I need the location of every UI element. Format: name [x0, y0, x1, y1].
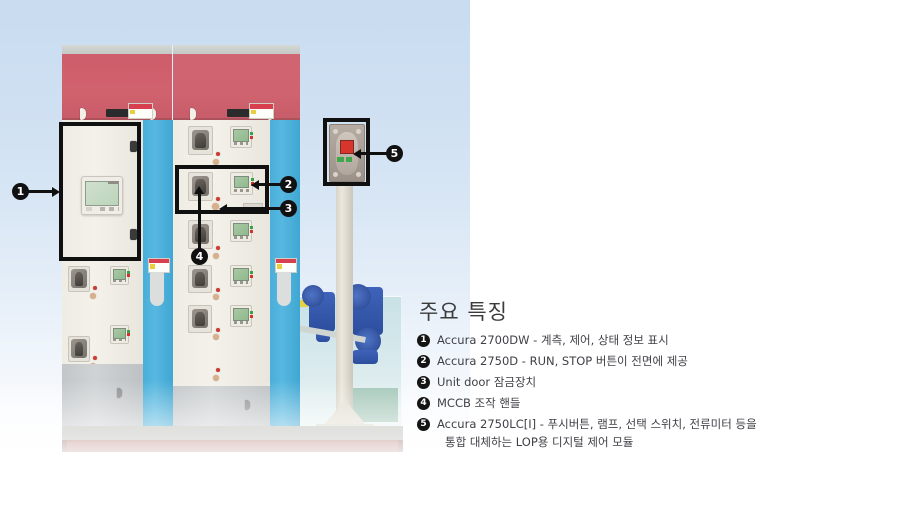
feature-number-2: 2: [417, 355, 430, 368]
strip-label-yellow-2: [277, 264, 281, 268]
feature-text-2: Accura 2750D - RUN, STOP 버튼이 전면에 제공: [437, 354, 688, 368]
callout-marker-3[interactable]: 3: [280, 200, 297, 217]
slide-canvas: 1 2 3 4 5 주요 특징 1 Accura 2700DW - 계측, 제어…: [0, 0, 920, 519]
accura-display-r4: [233, 268, 248, 280]
feature-text-5: Accura 2750LC[I] - 푸시버튼, 램프, 선택 스위치, 전류미…: [437, 417, 757, 431]
blue-strip-fitting-1: [150, 272, 164, 306]
accura-meter-r4: [230, 265, 252, 287]
feature-item-5: 5 Accura 2750LC[I] - 푸시버튼, 램프, 선택 스위치, 전…: [417, 417, 887, 450]
callout-marker-1[interactable]: 1: [12, 183, 29, 200]
callout-marker-5[interactable]: 5: [386, 145, 403, 162]
indicator-red-r3: [216, 246, 220, 250]
blue-strip-fitting-2: [277, 272, 291, 306]
red-block-handle-1: [80, 108, 86, 120]
accura-led-green-r1: [250, 132, 253, 135]
label-yellow-dot-2: [251, 110, 256, 115]
callout-box-1: [59, 122, 141, 261]
feature-number-1: 1: [417, 334, 430, 347]
feature-list: 1 Accura 2700DW - 계측, 제어, 상태 정보 표시 2 Acc…: [417, 333, 887, 450]
blue-strip-label-2: [275, 258, 297, 273]
page-title: 주요 특징: [419, 296, 887, 326]
feature-number-5: 5: [417, 418, 430, 431]
callout-arrow-4: [194, 186, 204, 194]
feature-text-5-line2: 통합 대체하는 LOP용 디지털 제어 모듈: [437, 435, 887, 450]
mccb-handle-l2: [68, 336, 90, 362]
feature-caption-block: 주요 특징 1 Accura 2700DW - 계측, 제어, 상태 정보 표시…: [417, 296, 887, 456]
mccb-handle-r5: [188, 305, 212, 333]
label-yellow-dot-1: [130, 110, 135, 115]
feature-number-4: 4: [417, 397, 430, 410]
switchgear-photo: 1 2 3 4 5: [0, 0, 470, 500]
label-red-band-1: [129, 104, 152, 109]
motor-fan-1: [302, 285, 324, 307]
feature-item-3: 3 Unit door 잠금장치: [417, 375, 887, 390]
mccb-knob-r1: [195, 133, 205, 148]
door-lock-r3: [213, 253, 219, 259]
accura-meter-l1: [110, 266, 129, 285]
mccb-handle-r1: [188, 126, 213, 155]
accura-display-l1: [113, 269, 126, 280]
red-block-handle-3: [190, 108, 196, 120]
accura-led-red-r4: [250, 275, 253, 278]
red-block-label-2: [249, 103, 274, 119]
accura-meter-r5: [230, 305, 252, 327]
accura-led-red-l1: [127, 274, 130, 277]
indicator-red-l1: [93, 286, 97, 290]
mccb-knob-l1: [75, 272, 84, 285]
indicator-red-l2: [93, 356, 97, 360]
red-block-strip-2: [227, 109, 251, 117]
callout-marker-4[interactable]: 4: [191, 248, 208, 265]
callout-line-3: [222, 207, 286, 210]
callout-line-4: [198, 192, 201, 252]
accura-buttons-l1: [113, 280, 125, 282]
accura-led-green-l1: [127, 271, 130, 274]
accura-led-green-r3: [250, 226, 253, 229]
indicator-red-r5: [216, 328, 220, 332]
door-lock-r5: [213, 334, 219, 340]
floor-fade: [0, 380, 470, 500]
accura-led-green-r5: [250, 311, 253, 314]
motor-base-2: [352, 350, 378, 364]
mccb-knob-r5: [195, 312, 205, 327]
feature-item-2: 2 Accura 2750D - RUN, STOP 버튼이 전면에 제공: [417, 354, 887, 369]
accura-led-red-r3: [250, 230, 253, 233]
feature-number-3: 3: [417, 376, 430, 389]
cabinet-cap-left: [62, 45, 172, 54]
red-block-label-1: [128, 103, 153, 119]
accura-led-green-r4: [250, 271, 253, 274]
callout-marker-2[interactable]: 2: [280, 176, 297, 193]
strip-label-red-2: [276, 259, 296, 263]
accura-display-r1: [233, 129, 248, 141]
feature-text-1: Accura 2700DW - 계측, 제어, 상태 정보 표시: [437, 333, 669, 347]
accura-buttons-r1: [234, 142, 248, 145]
accura-display-l2: [113, 328, 126, 339]
strip-label-red-1: [149, 259, 169, 263]
accura-buttons-r3: [234, 236, 248, 239]
accura-led-red-r5: [250, 315, 253, 318]
accura-led-red-l2: [127, 333, 130, 336]
strip-label-yellow-1: [150, 264, 154, 268]
mccb-handle-l1: [68, 266, 90, 292]
accura-buttons-r4: [234, 281, 248, 284]
accura-led-red-r1: [250, 136, 253, 139]
accura-display-r5: [233, 308, 248, 320]
feature-text-3: Unit door 잠금장치: [437, 375, 536, 389]
accura-meter-r3: [230, 220, 252, 242]
door-lock-l1: [90, 293, 96, 299]
callout-arrow-1: [52, 187, 60, 197]
label-red-band-2: [250, 104, 273, 109]
accura-buttons-r5: [234, 321, 248, 324]
blue-strip-label-1: [148, 258, 170, 273]
door-lock-r4: [213, 294, 219, 300]
callout-arrow-2: [251, 180, 259, 190]
mccb-knob-l2: [75, 342, 84, 355]
mccb-handle-r4: [188, 265, 212, 293]
accura-meter-l2: [110, 325, 129, 344]
feature-item-4: 4 MCCB 조작 핸들: [417, 396, 887, 411]
accura-buttons-l2: [113, 339, 125, 341]
callout-arrow-5: [353, 149, 361, 159]
accura-led-green-l2: [127, 330, 130, 333]
accura-meter-r1: [230, 126, 252, 148]
feature-item-1: 1 Accura 2700DW - 계측, 제어, 상태 정보 표시: [417, 333, 887, 348]
callout-arrow-3: [219, 204, 227, 214]
cabinet-cap-right: [173, 45, 300, 54]
accura-display-r3: [233, 223, 248, 235]
mccb-knob-r4: [195, 272, 205, 287]
red-block-strip-1: [106, 109, 130, 117]
indicator-red-r4: [216, 288, 220, 292]
cabinet-seam-top: [172, 45, 173, 120]
indicator-red-r1: [216, 152, 220, 156]
indicator-red-r6: [216, 368, 220, 372]
feature-text-4: MCCB 조작 핸들: [437, 396, 521, 410]
